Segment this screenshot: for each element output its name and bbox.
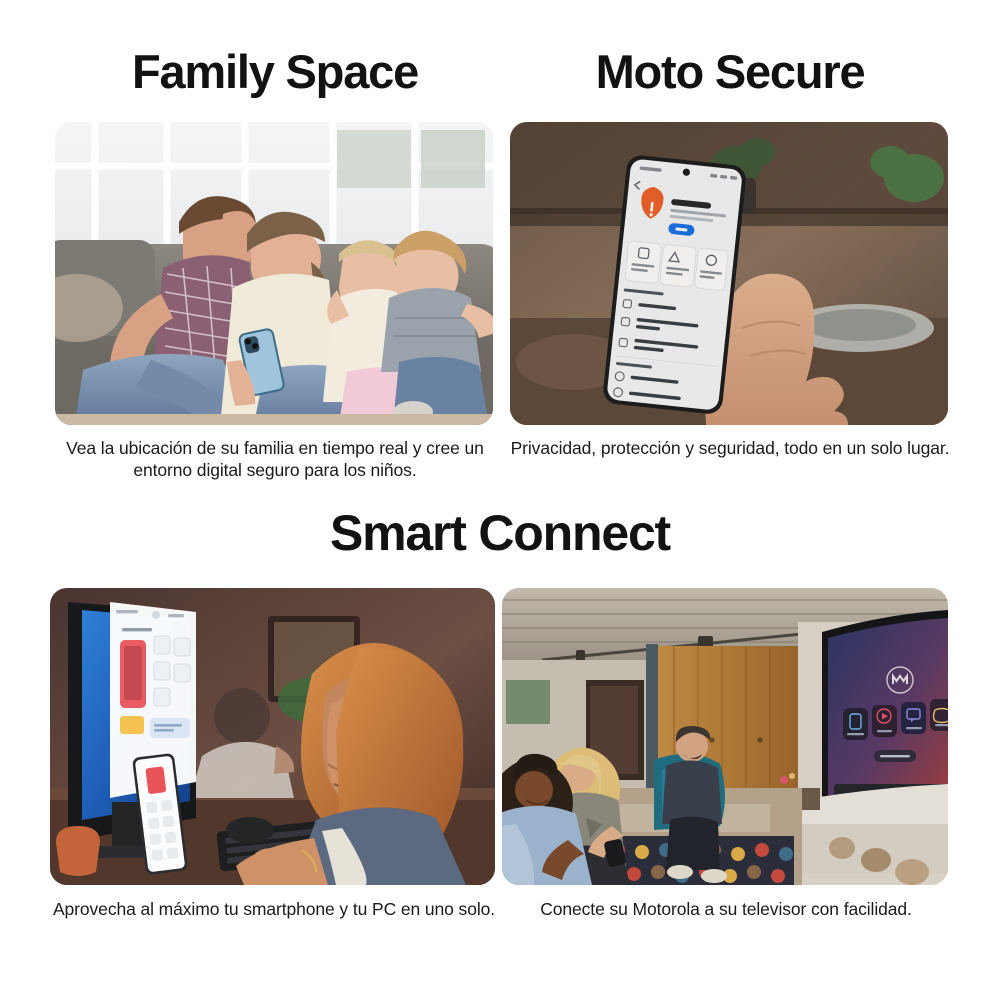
feature-title-family-space: Family Space [55, 48, 495, 95]
smart-connect-tv-illustration [502, 588, 948, 885]
caption-smart-connect-tv: Conecte su Motorola a su televisor con f… [502, 898, 950, 920]
caption-smart-connect-pc: Aprovecha al máximo tu smartphone y tu P… [50, 898, 498, 920]
caption-family-space: Vea la ubicación de su familia en tiempo… [55, 437, 495, 482]
image-smart-connect-tv [502, 588, 948, 885]
feature-title-smart-connect: Smart Connect [50, 508, 950, 558]
smart-connect-pc-illustration [50, 588, 495, 885]
promo-page: Family Space Moto Secure [0, 0, 1000, 1000]
caption-moto-secure: Privacidad, protección y seguridad, todo… [510, 437, 950, 459]
moto-secure-photo-illustration [510, 122, 948, 425]
feature-title-moto-secure: Moto Secure [510, 48, 950, 95]
family-photo-illustration [55, 122, 493, 425]
image-family-space [55, 122, 493, 425]
image-smart-connect-pc [50, 588, 495, 885]
image-moto-secure [510, 122, 948, 425]
